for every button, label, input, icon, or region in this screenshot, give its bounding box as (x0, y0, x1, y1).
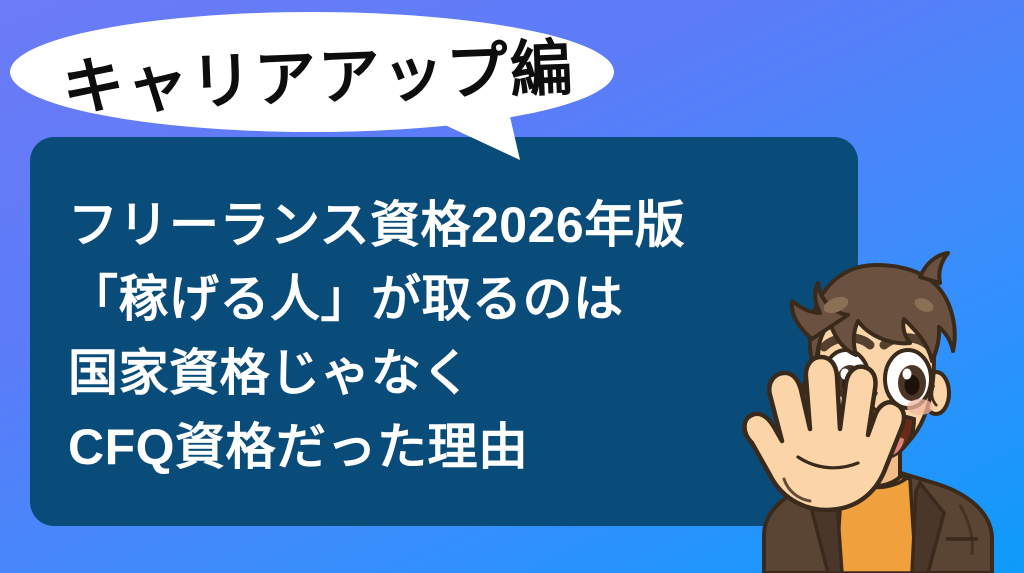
title-line-3: 国家資格じゃなく (68, 336, 828, 410)
thumbnail-canvas: フリーランス資格2026年版 「稼げる人」が取るのは 国家資格じゃなく CFQ資… (0, 0, 1024, 573)
title-text-block: フリーランス資格2026年版 「稼げる人」が取るのは 国家資格じゃなく CFQ資… (68, 188, 828, 484)
title-line-2: 「稼げる人」が取るのは (68, 262, 828, 336)
character-illustration (724, 243, 1024, 573)
character-blush (907, 399, 933, 415)
title-line-1: フリーランス資格2026年版 (68, 188, 828, 262)
badge-speech-bubble: キャリアアップ編 (0, 0, 640, 175)
title-line-4: CFQ資格だった理由 (68, 410, 828, 484)
